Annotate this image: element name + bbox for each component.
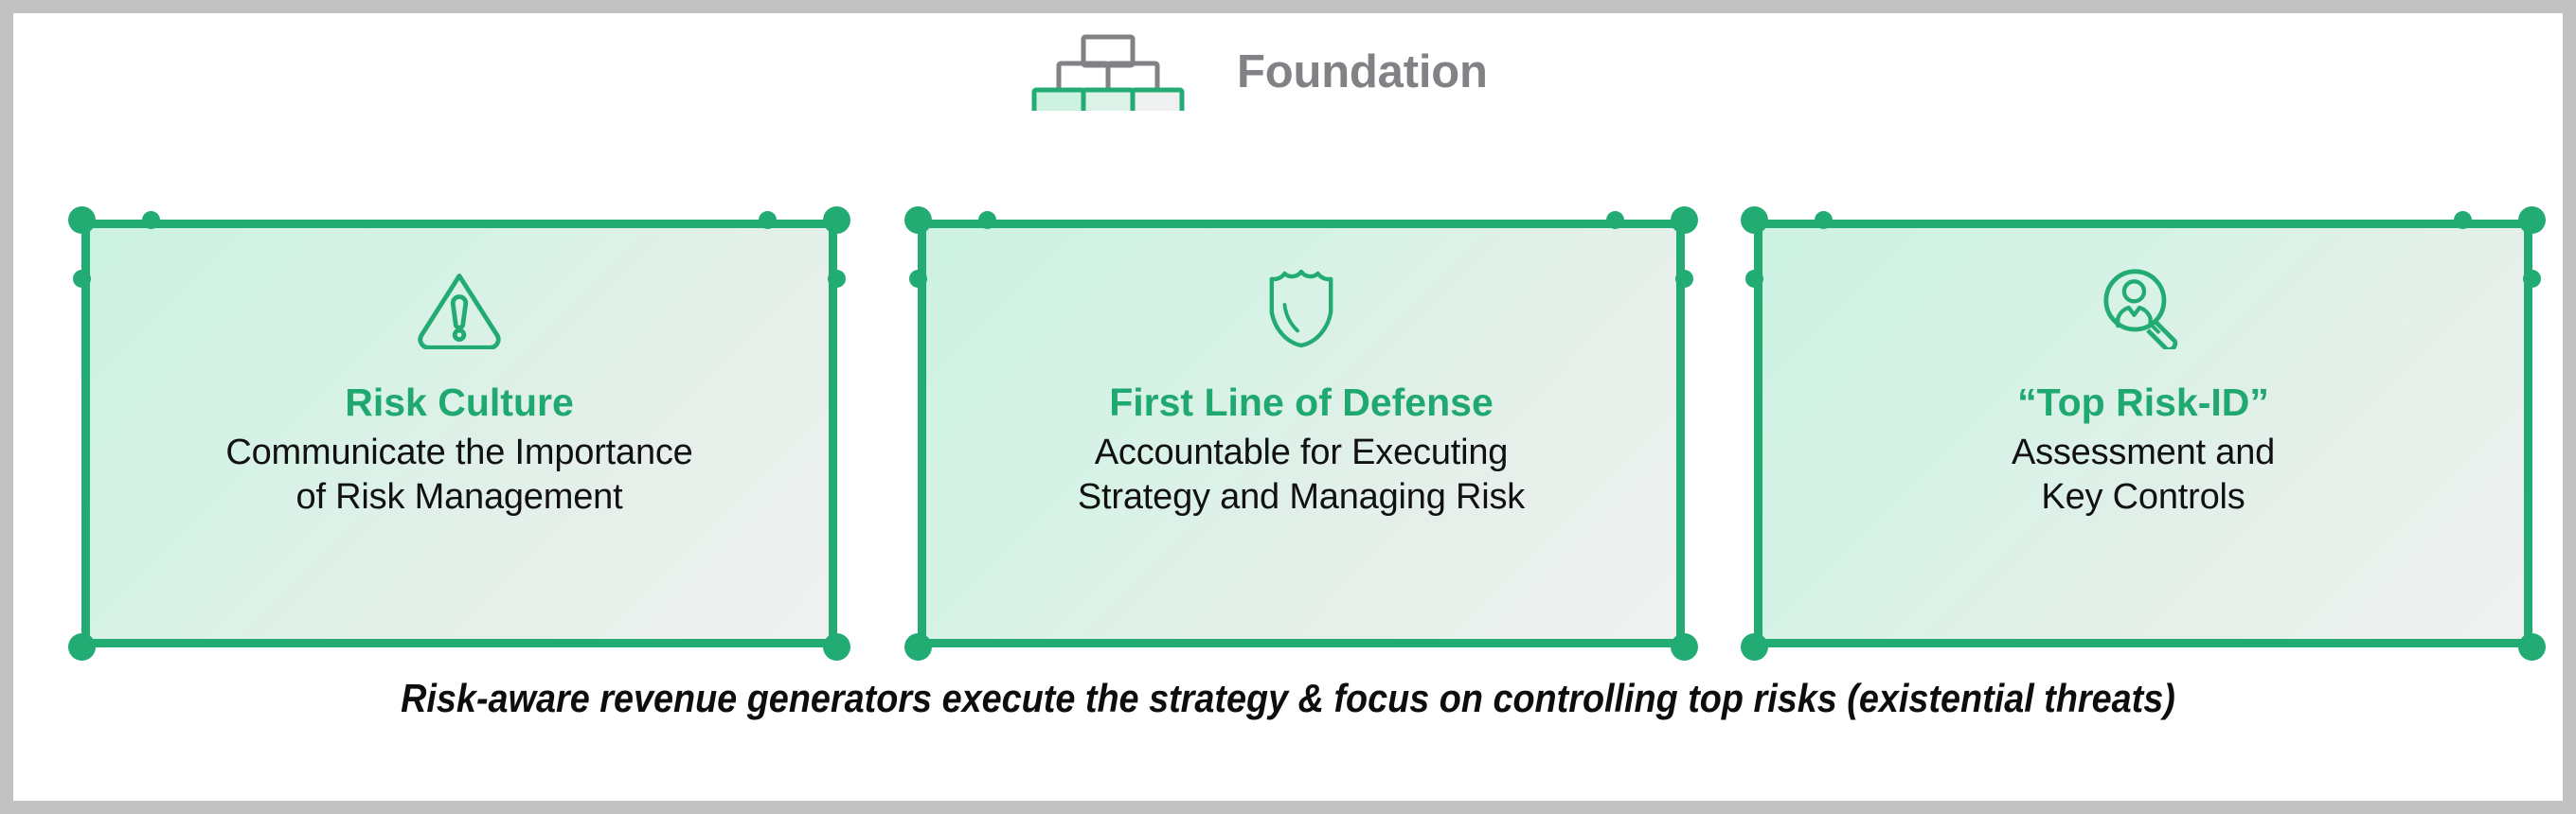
resize-handle-top-inner-left[interactable] xyxy=(1815,211,1833,229)
card-body: Assessment and Key Controls xyxy=(2012,431,2275,520)
resize-handle-left-inner[interactable] xyxy=(73,270,91,288)
card-body-line: Assessment and xyxy=(2012,431,2275,475)
card-body-line: Accountable for Executing xyxy=(1078,431,1525,475)
resize-handle-right-inner[interactable] xyxy=(2523,270,2541,288)
card-title: First Line of Defense xyxy=(1109,381,1494,425)
resize-handle-top-right[interactable] xyxy=(2518,206,2546,234)
summary-caption: Risk-aware revenue generators execute th… xyxy=(141,676,2436,721)
slide-canvas: Foundation Risk Culture Communicate the … xyxy=(13,13,2563,801)
resize-handle-top-inner-left[interactable] xyxy=(142,211,160,229)
foundation-label: Foundation xyxy=(1237,49,1488,96)
resize-handle-bottom-left[interactable] xyxy=(1741,633,1768,661)
card-body-line: of Risk Management xyxy=(225,475,692,520)
card-top-risk-id[interactable]: “Top Risk-ID” Assessment and Key Control… xyxy=(1741,206,2546,661)
resize-handle-bottom-right[interactable] xyxy=(823,633,850,661)
resize-handle-top-left[interactable] xyxy=(1741,206,1768,234)
card-body-line: Key Controls xyxy=(2012,475,2275,520)
resize-handle-top-right[interactable] xyxy=(1671,206,1698,234)
resize-handle-right-inner[interactable] xyxy=(828,270,846,288)
bricks-foundation-icon xyxy=(1023,33,1212,111)
shield-icon xyxy=(1264,268,1338,349)
card-title: Risk Culture xyxy=(345,381,574,425)
resize-handle-top-inner-left[interactable] xyxy=(978,211,996,229)
resize-handle-bottom-left[interactable] xyxy=(904,633,932,661)
card-box: “Top Risk-ID” Assessment and Key Control… xyxy=(1754,220,2532,647)
resize-handle-left-inner[interactable] xyxy=(1745,270,1763,288)
resize-handle-top-inner-right[interactable] xyxy=(759,211,777,229)
card-content: Risk Culture Communicate the Importance … xyxy=(128,268,791,620)
resize-handle-top-inner-right[interactable] xyxy=(1606,211,1624,229)
card-body-line: Strategy and Managing Risk xyxy=(1078,475,1525,520)
foundation-header: Foundation xyxy=(1023,30,1686,114)
card-body: Accountable for Executing Strategy and M… xyxy=(1078,431,1525,520)
resize-handle-bottom-right[interactable] xyxy=(1671,633,1698,661)
resize-handle-bottom-right[interactable] xyxy=(2518,633,2546,661)
card-box: First Line of Defense Accountable for Ex… xyxy=(918,220,1685,647)
resize-handle-top-right[interactable] xyxy=(823,206,850,234)
card-title: “Top Risk-ID” xyxy=(2017,381,2269,425)
resize-handle-top-left[interactable] xyxy=(904,206,932,234)
card-content: “Top Risk-ID” Assessment and Key Control… xyxy=(1800,268,2486,620)
resize-handle-left-inner[interactable] xyxy=(909,270,927,288)
slide-frame: Foundation Risk Culture Communicate the … xyxy=(0,0,2576,814)
resize-handle-right-inner[interactable] xyxy=(1675,270,1693,288)
card-box: Risk Culture Communicate the Importance … xyxy=(81,220,837,647)
person-magnifier-icon xyxy=(2101,268,2186,349)
resize-handle-bottom-left[interactable] xyxy=(68,633,96,661)
warning-triangle-icon xyxy=(414,268,505,349)
card-content: First Line of Defense Accountable for Ex… xyxy=(964,268,1638,620)
resize-handle-top-left[interactable] xyxy=(68,206,96,234)
card-body-line: Communicate the Importance xyxy=(225,431,692,475)
resize-handle-top-inner-right[interactable] xyxy=(2454,211,2472,229)
card-risk-culture[interactable]: Risk Culture Communicate the Importance … xyxy=(68,206,850,661)
card-body: Communicate the Importance of Risk Manag… xyxy=(225,431,692,520)
card-first-line-of-defense[interactable]: First Line of Defense Accountable for Ex… xyxy=(904,206,1698,661)
